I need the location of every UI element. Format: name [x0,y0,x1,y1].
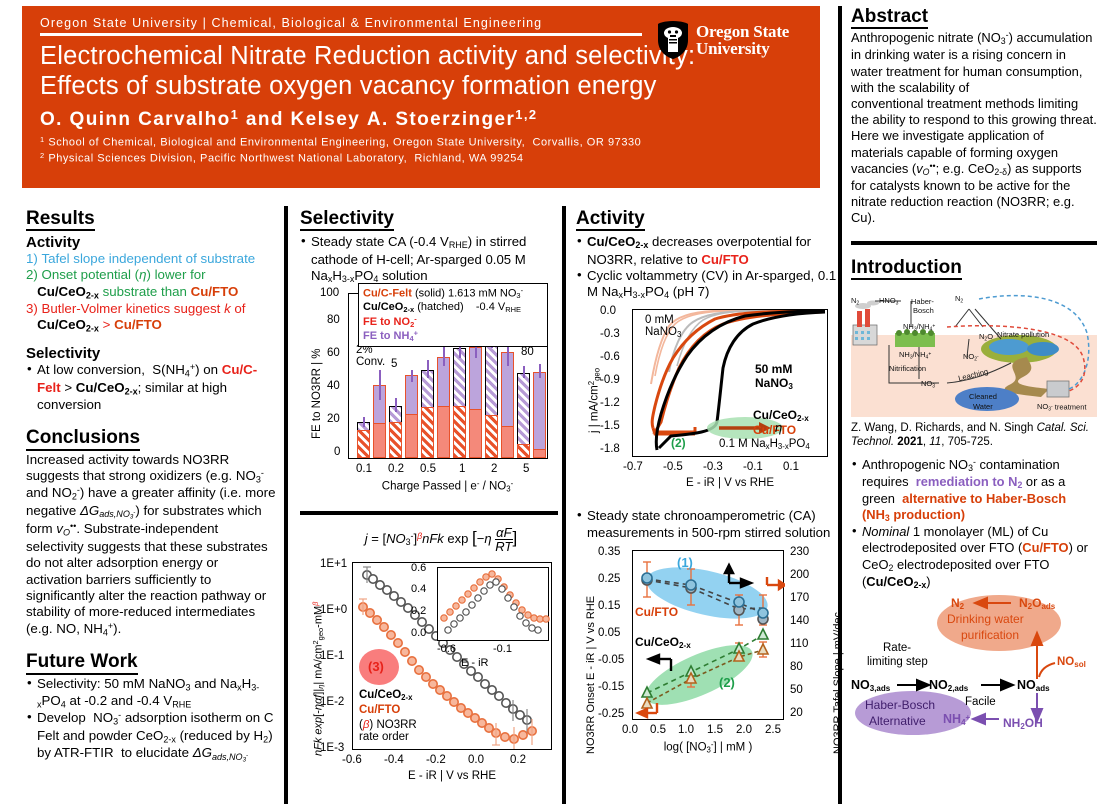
department-line: Oregon State University | Chemical, Biol… [40,16,640,33]
tafel-ylabel: nFk exp[-ηαf]|η| mA/cm2geo-mMβ [311,602,325,756]
onset-xtick-10: 1.0 [678,724,694,736]
tafel-ytick-1e1: 1E+1 [320,558,347,570]
onset-ytick-025: 0.25 [598,573,620,585]
fe-xtick-5: 5 [523,463,529,475]
cv-ytick-06: -0.6 [600,351,620,363]
future-work-item-1: Selectivity: 50 mM NaNO3 and NaxH3-xPO4 … [26,676,276,711]
fe-ytick-100: 100 [320,287,339,299]
intro-bullet-1: Anthropogenic NO3- contamination require… [851,457,1097,525]
err-ceo2-0 [363,417,365,427]
inset-ytick-04: 0.4 [411,583,426,595]
svg-text:N2: N2 [951,596,965,611]
cv-xtick-m01: -0.1 [743,461,763,473]
legend-item-no2: FE to NO2- [363,314,543,329]
onset-annotation-2: (2) [719,675,735,690]
cv-ytick-12: -1.2 [600,397,620,409]
fe-xtick-3: 1 [459,463,465,475]
onset-tafel-chart: NO3RR Onset E - iR | V vs RHE NO3RR Tafe… [576,544,838,792]
activity-bullet-2: Cyclic voltammetry (CV) in Ar-sparged, 0… [576,268,838,302]
results-selectivity-heading: Selectivity [26,345,276,362]
cv-xtick-m07: -0.7 [623,461,643,473]
svg-text:Alternative: Alternative [869,714,926,728]
tafel-chart: j = [NO3-]βnFk exp [−η αFRT] nFk exp[-ηα… [300,524,562,789]
column-divider-1 [284,206,288,804]
conv-label-1: 5 [391,358,397,370]
fe-ytick-0: 0 [334,446,340,458]
title-line-2: Effects of substrate oxygen vacancy form… [40,72,657,100]
activity-heading: Activity [576,208,645,231]
future-work-item-2: Develop NO3- adsorption isotherm on C Fe… [26,710,276,763]
fe-bar-legend: Cu/C-Felt (solid) 1.613 mM NO3- Cu/CeO2-… [358,283,548,347]
cv-label-0mm: 0 mMNaNO3 [645,314,681,339]
results-activity-list: 1) Tafel slope independent of substrate … [26,251,276,334]
cv-ytick-18: -1.8 [600,443,620,455]
result-item-2: 2) Onset potential (η) lower for Cu/CeO2… [26,267,276,301]
onset-ylabel-right: NO3RR Tafel Slope | mV/dec [832,612,844,754]
ca-bullet: • Steady state chronoamperometric (CA) m… [576,508,838,540]
tafel-legend-rate-order: (β) NO3RRrate order [359,719,417,743]
svg-text:NO3,ads: NO3,ads [851,678,891,693]
cv-label-electrolyte: 0.1 M NaxH3-xPO4 [719,438,810,451]
legend-item-ceo2: Cu/CeO2-x (hatched) -0.4 VRHE [363,301,543,314]
err-cfelt-2 [443,346,445,366]
results-activity-heading: Activity [26,234,276,251]
intro-bullet-2: Nominal 1 monolayer (ML) of Cu electrode… [851,524,1097,591]
tafel-xtick-00: 0.0 [468,754,484,766]
svg-text:NOsol: NOsol [1057,656,1086,669]
onset-plot-area: (1) (2) Cu/FTO Cu/CeO2-x [632,550,784,720]
cv-xtick-01: 0.1 [783,461,799,473]
err-ceo2-5 [523,366,525,378]
svg-text:NH4+: NH4+ [943,712,971,727]
onset-xtick-00: 0.0 [622,724,638,736]
nitrogen-cycle-svg: N2 HNO3 Haber- Bosch N2 NH3/NH4+ N2O Nit… [851,287,1097,417]
cv-ytick-03: -0.3 [600,328,620,340]
cv-xtick-m05: -0.5 [663,461,683,473]
svg-text:N2Oads: N2Oads [1019,596,1056,611]
svg-text:limiting step: limiting step [867,656,928,668]
onset-rtick-20: 20 [790,707,803,719]
tafel-plot-area: (3) β Cu/CeO2-x Cu/FTO (β) NO3RRrate ord… [352,562,552,750]
nitrogen-cycle-figure: N2 HNO3 Haber- Bosch N2 NH3/NH4+ N2O Nit… [851,287,1097,417]
cv-xtick-m03: -0.3 [703,461,723,473]
author-list: O. Quinn Carvalho1 and Kelsey A. Stoerzi… [40,107,806,131]
onset-ytick-035: 0.35 [598,546,620,558]
result-item-3: 3) Butler-Volmer kinetics suggest k of C… [26,301,276,335]
onset-ytick-m025: -0.25 [598,708,624,720]
tafel-xlabel: E - iR | V vs RHE [350,770,554,782]
abstract-text: Anthropogenic nitrate (NO3-) accumulatio… [851,30,1097,226]
onset-ytick-m015: -0.15 [598,681,624,693]
selectivity-divider [300,511,558,515]
onset-rtick-230: 230 [790,546,809,558]
selectivity-heading: Selectivity [300,208,394,231]
svg-text:NO3- treatment: NO3- treatment [1037,402,1087,413]
activity-column: Activity Cu/CeO2-x decreases overpotenti… [576,208,838,792]
results-column: Results Activity 1) Tafel slope independ… [26,208,276,764]
figure-citation: Z. Wang, D. Richards, and N. Singh Catal… [851,421,1097,449]
conclusions-heading: Conclusions [26,427,140,450]
activity-bullet-1: Cu/CeO2-x decreases overpotential for NO… [576,234,838,268]
svg-text:NO2,ads: NO2,ads [929,678,969,693]
results-selectivity-bullet: • At low conversion, S(NH4+) on Cu/C-Fel… [26,362,276,413]
svg-text:NO2-: NO2- [963,352,979,363]
poster-header: Oregon State University | Chemical, Biol… [22,6,820,188]
svg-text:NOads: NOads [1017,678,1050,693]
cv-ytick-09: -0.9 [600,374,620,386]
tafel-xtick-m04: -0.4 [384,754,404,766]
reaction-scheme: N2 N2Oads NO3,ads NO2,ads NOads NOsol NH… [851,593,1097,745]
bar-cfelt-no2-4 [501,426,514,458]
onset-xtick-15: 1.5 [707,724,723,736]
legend-item-cfelt: Cu/C-Felt (solid) 1.613 mM NO3- [363,286,543,301]
cv-plot-area: 0 mMNaNO3 50 mMNaNO3 Cu/CeO2-x Cu/FTO 0.… [632,309,828,457]
onset-rtick-200: 200 [790,569,809,581]
svg-text:purification: purification [961,628,1019,642]
tafel-inset-points [438,568,550,642]
bar-ceo2-no2-1 [389,422,402,458]
onset-ytick-015: 0.15 [598,600,620,612]
abstract-divider [851,241,1097,245]
title-line-1: Electrochemical Nitrate Reduction activi… [40,42,695,70]
fe-xtick-0: 0.1 [356,463,372,475]
cv-ytick-15: -1.5 [600,420,620,432]
fe-ytick-80: 80 [327,314,340,326]
tafel-ytick-1em2: 1E-2 [320,696,344,708]
svg-text:Cleaned: Cleaned [969,392,997,401]
err-cfelt-1 [411,370,413,382]
reaction-scheme-svg: N2 N2Oads NO3,ads NO2,ads NOads NOsol NH… [851,593,1097,745]
column-divider-2 [562,206,566,804]
cv-xlabel: E - iR | V vs RHE [628,477,832,489]
conv-label-5: 80 [521,346,534,358]
results-heading: Results [26,208,95,231]
bar-ceo2-no2-5 [517,444,530,458]
tafel-xtick-02: 0.2 [510,754,526,766]
svg-text:Drinking water: Drinking water [947,612,1024,626]
beaver-shield-icon [656,20,690,60]
tafel-ytick-1e0: 1E+0 [320,604,347,616]
cv-eta-label: η [775,420,782,435]
abstract-heading: Abstract [851,6,928,29]
bar-ceo2-no2-2 [421,407,434,458]
header-divider [40,33,642,36]
introduction-bullets: Anthropogenic NO3- contamination require… [851,457,1097,591]
svg-text:Haber-: Haber- [911,297,934,306]
svg-text:Facile: Facile [965,696,996,708]
bar-cfelt-no2-1 [405,414,418,458]
selectivity-column: Selectivity • Steady state CA (-0.4 VRHE… [300,208,562,789]
affiliation-2: 2 Physical Sciences Division, Pacific No… [40,151,806,167]
result-item-1: 1) Tafel slope independent of substrate [26,251,276,267]
osu-logo: Oregon State University [656,18,804,62]
bar-cfelt-total-5 [533,372,546,458]
onset-xtick-25: 2.5 [765,724,781,736]
tafel-ytick-1em1: 1E-1 [320,650,344,662]
onset-ytick-005: 0.05 [598,627,620,639]
selectivity-bullet: • Steady state CA (-0.4 VRHE) in stirred… [300,234,562,285]
future-work-list: Selectivity: 50 mM NaNO3 and NaxH3-xPO4 … [26,676,276,764]
inset-ytick-02: 0.2 [411,605,426,617]
svg-text:Nitrate pollution: Nitrate pollution [997,330,1049,339]
onset-xtick-05: 0.5 [650,724,666,736]
tafel-xtick-m06: -0.6 [342,754,362,766]
bar-cfelt-no2-3 [469,409,482,458]
err-ceo2-2 [427,360,429,378]
fe-bar-chart-xlabel: Charge Passed | e- / NO3- [340,479,555,493]
introduction-heading: Introduction [851,257,962,280]
bar-ceo2-no2-4 [485,415,498,458]
svg-text:Nitrification: Nitrification [889,364,926,373]
onset-rtick-80: 80 [790,661,803,673]
fe-xtick-4: 2 [491,463,497,475]
onset-rtick-170: 170 [790,592,809,604]
onset-xlabel: log( [NO3-] | mM ) [628,740,788,754]
fe-ytick-60: 60 [327,347,340,359]
logo-wordmark: Oregon State University [696,23,789,57]
abstract-intro-column: Abstract Anthropogenic nitrate (NO3-) ac… [851,6,1097,745]
tafel-legend-ceo2: Cu/CeO2-x [359,689,412,702]
svg-text:Haber-Bosch: Haber-Bosch [865,698,935,712]
onset-ytick-m005: -0.05 [598,654,624,666]
onset-rtick-140: 140 [790,615,809,627]
activity-bullets: Cu/CeO2-x decreases overpotential for NO… [576,234,838,301]
annotation-3-label: (3) [368,659,384,674]
cv-ytick-00: 0.0 [600,305,616,317]
fe-ytick-40: 40 [327,380,340,392]
bar-cfelt-no2-2 [437,406,450,458]
fe-bar-chart: FE to NO3RR | % 100 80 60 40 20 0 2%Conv… [300,287,562,497]
legend-item-nh4: FE to NH4+ [363,329,543,344]
tafel-equation: j = [NO3-]βnFk exp [−η αFRT] [326,526,556,553]
inset-ytick-06: 0.6 [411,562,426,574]
err-cfelt-5 [539,364,541,378]
svg-text:NO3-: NO3- [921,379,937,390]
tafel-legend-fto: Cu/FTO [359,704,400,716]
bar-ceo2-no2-0 [357,430,370,458]
affiliation-1: 1 School of Chemical, Biological and Env… [40,135,806,151]
cv-annotation-2: (2) [671,436,686,450]
logo-line-1: Oregon State [696,23,789,40]
logo-line-2: University [696,40,789,57]
inset-ytick-00: 0.0 [411,627,426,639]
conv-label-0: 2%Conv. [356,344,385,368]
inset-xtick-m01: -0.1 [493,643,512,655]
bar-cfelt-no2-5 [533,449,546,458]
bar-cfelt-no2-0 [373,423,386,458]
cv-label-50mm: 50 mMNaNO3 [755,362,793,391]
fe-ytick-20: 20 [327,413,340,425]
tafel-inset-plot [437,567,549,641]
fe-xtick-2: 0.5 [420,463,436,475]
inset-xtick-m06: -0.6 [437,643,456,655]
tafel-ytick-1em3: 1E-3 [320,742,344,754]
fe-xtick-1: 0.2 [388,463,404,475]
bar-ceo2-no2-3 [453,406,466,458]
svg-text:Rate-: Rate- [883,642,911,654]
conclusions-text: Increased activity towards NO3RR suggest… [26,452,276,639]
cv-chart: j | mA/cm2geo 0.0 -0.3 -0.6 -0.9 -1.2 -1… [576,303,838,503]
err-ceo2-1 [395,398,397,412]
svg-text:Water: Water [973,402,993,411]
onset-label-ceo2: Cu/CeO2-x [635,635,691,650]
err-cfelt-0 [379,370,381,400]
onset-ylabel: NO3RR Onset E - iR | V vs RHE [585,596,597,754]
svg-text:Bosch: Bosch [913,306,934,315]
inset-xlabel: E - iR [461,657,489,669]
tafel-xtick-m02: -0.2 [426,754,446,766]
onset-xtick-20: 2.0 [736,724,752,736]
fe-bar-chart-ylabel: FE to NO3RR | % [311,348,323,439]
onset-rtick-50: 50 [790,684,803,696]
onset-rtick-110: 110 [790,638,808,650]
future-work-heading: Future Work [26,651,138,674]
onset-label-fto: Cu/FTO [635,605,678,619]
onset-annotation-1: (1) [677,555,693,570]
